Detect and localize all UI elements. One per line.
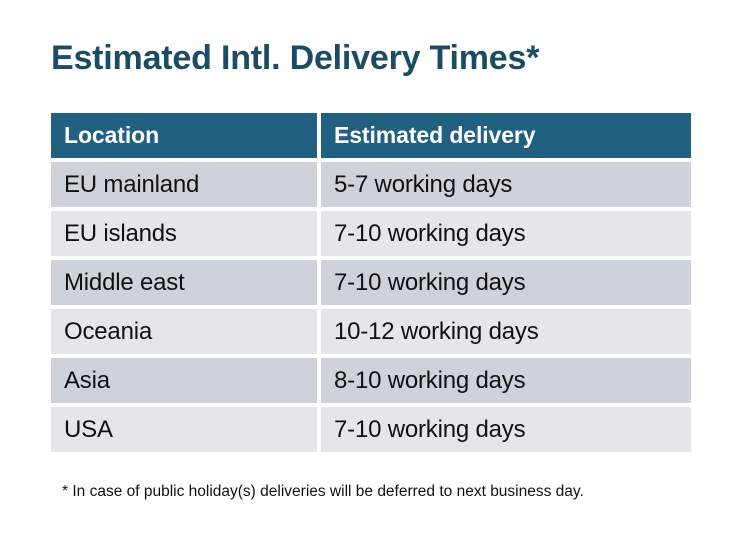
table-row: EU mainland 5-7 working days [51,162,691,207]
cell-delivery: 7-10 working days [321,260,691,305]
table-row: Middle east 7-10 working days [51,260,691,305]
cell-delivery: 7-10 working days [321,211,691,256]
cell-location: USA [51,407,317,452]
cell-location: EU mainland [51,162,317,207]
cell-location: Middle east [51,260,317,305]
table-row: Asia 8-10 working days [51,358,691,403]
page-title: Estimated Intl. Delivery Times* [51,38,539,78]
delivery-times-page: Estimated Intl. Delivery Times* Location… [0,0,745,536]
cell-delivery: 8-10 working days [321,358,691,403]
table-row: EU islands 7-10 working days [51,211,691,256]
table-header-row: Location Estimated delivery [51,113,691,158]
cell-location: Asia [51,358,317,403]
cell-delivery: 5-7 working days [321,162,691,207]
column-header-location: Location [51,113,317,158]
cell-location: Oceania [51,309,317,354]
cell-delivery: 7-10 working days [321,407,691,452]
estimated-delivery-table: Location Estimated delivery EU mainland … [51,113,691,452]
footnote-text: * In case of public holiday(s) deliverie… [62,482,584,502]
column-header-estimated-delivery: Estimated delivery [321,113,691,158]
table-row: Oceania 10-12 working days [51,309,691,354]
cell-location: EU islands [51,211,317,256]
cell-delivery: 10-12 working days [321,309,691,354]
table-row: USA 7-10 working days [51,407,691,452]
